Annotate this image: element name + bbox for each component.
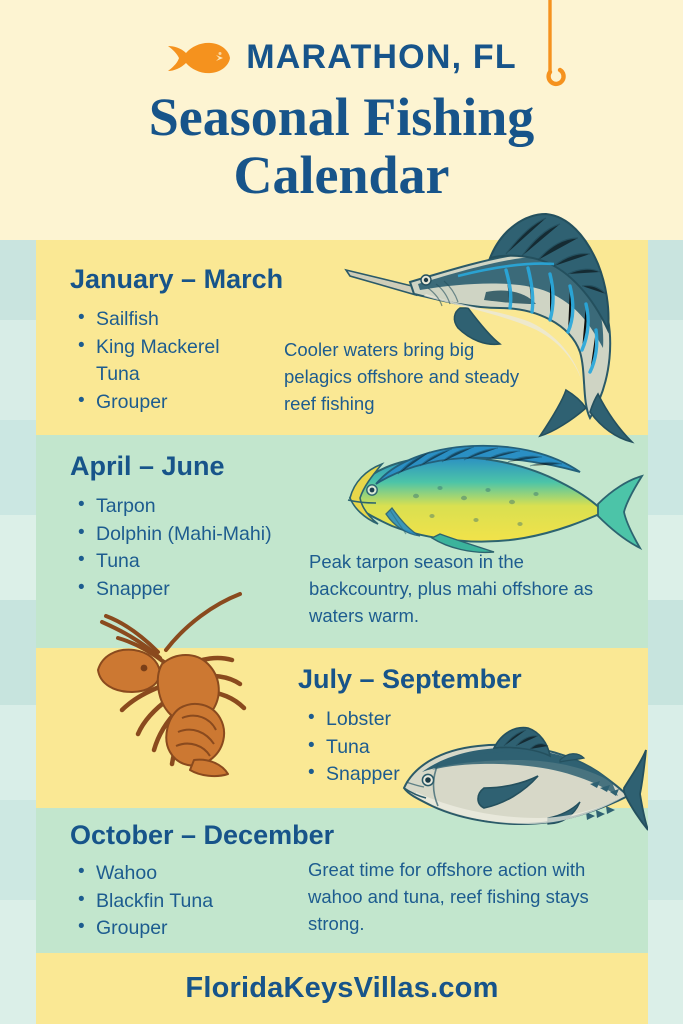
list-item: Blackfin Tuna (78, 888, 308, 916)
season-blurb: Great time for offshore action with waho… (308, 856, 614, 937)
list-item: Grouper (78, 389, 298, 417)
species-list: Tarpon Dolphin (Mahi-Mahi) Tuna Snapper (78, 493, 338, 604)
fishing-line-hook-icon (543, 0, 569, 96)
season-panel-april-june: April – June Tarpon Dolphin (Mahi-Mahi) … (36, 435, 648, 648)
list-item: Snapper (78, 576, 338, 604)
page-title-line-2: Calendar (0, 146, 683, 204)
season-title: January – March (70, 264, 283, 295)
list-item: Tarpon (78, 493, 338, 521)
list-item: Lobster (308, 706, 538, 734)
page-title: Seasonal Fishing Calendar (0, 88, 683, 205)
list-item: Grouper (78, 915, 308, 943)
season-title: October – December (70, 820, 334, 851)
header-banner: MARATHON, FL Seasonal Fishing Calendar (0, 0, 683, 240)
list-item-continuation: Tuna (78, 361, 298, 389)
title-row: MARATHON, FL (0, 38, 683, 77)
list-item: Dolphin (Mahi-Mahi) (78, 521, 338, 549)
season-panel-january-march: January – March Sailfish King Mackerel T… (36, 240, 648, 435)
season-blurb: Peak tarpon season in the backcountry, p… (309, 548, 629, 629)
location-kicker: MARATHON, FL (246, 38, 517, 77)
fish-silhouette-icon (166, 40, 232, 76)
page-title-line-1: Seasonal Fishing (0, 88, 683, 146)
season-title: April – June (70, 451, 225, 482)
list-item: Wahoo (78, 860, 308, 888)
list-item: Sailfish (78, 306, 298, 334)
species-list: Lobster Tuna Snapper (308, 706, 538, 789)
species-list: Sailfish King Mackerel Tuna Grouper (78, 306, 298, 417)
website-url[interactable]: FloridaKeysVillas.com (185, 972, 498, 1005)
season-title: July – September (298, 664, 522, 695)
species-list: Wahoo Blackfin Tuna Grouper (78, 860, 308, 943)
season-blurb: Cooler waters bring big pelagics offshor… (284, 336, 520, 417)
list-item: Tuna (78, 548, 338, 576)
list-item: Snapper (308, 761, 538, 789)
season-panel-july-september: July – September Lobster Tuna Snapper (36, 648, 648, 808)
list-item: Tuna (308, 734, 538, 762)
season-panel-october-december: October – December Wahoo Blackfin Tuna G… (36, 808, 648, 953)
footer-bar: FloridaKeysVillas.com (36, 953, 648, 1024)
list-item: King Mackerel (78, 334, 298, 362)
